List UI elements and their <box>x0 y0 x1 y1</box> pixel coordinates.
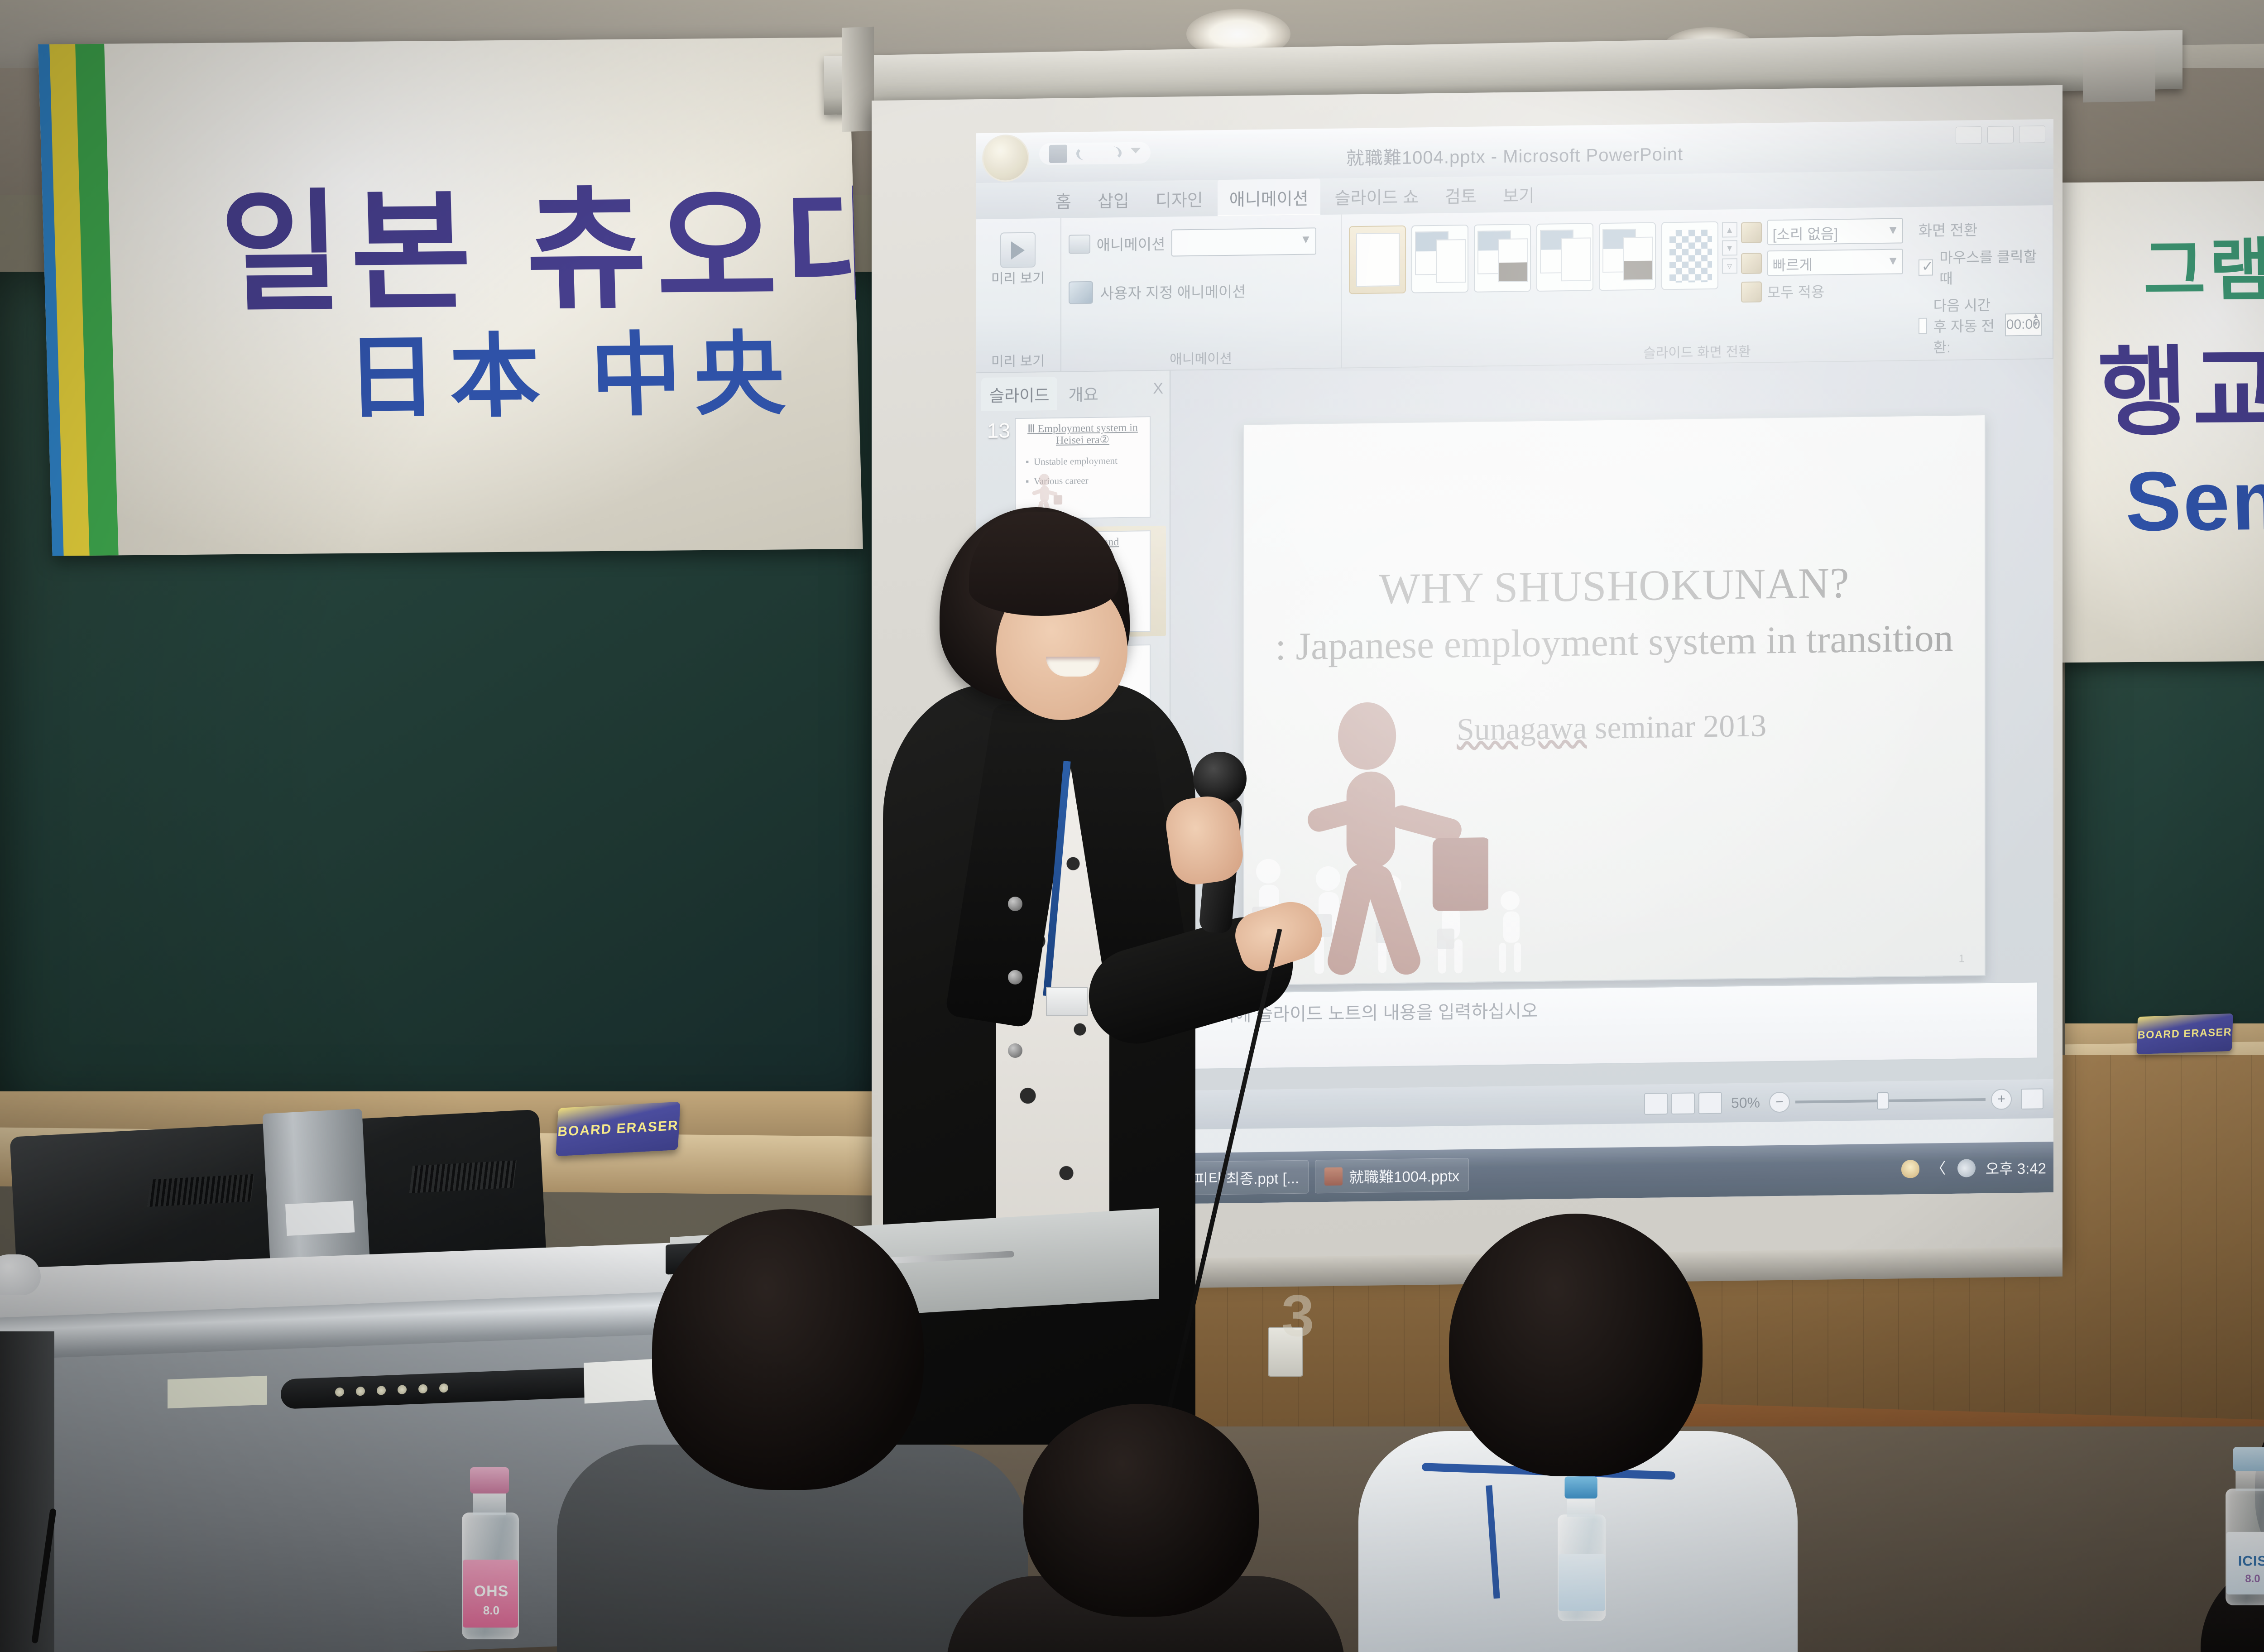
animate-control-row[interactable]: 애니메이션 <box>1069 227 1333 258</box>
tab-insert[interactable]: 삽입 <box>1086 179 1141 218</box>
advance-after-time-input[interactable]: 00:00 <box>2005 313 2042 336</box>
advance-on-click-checkbox[interactable] <box>1919 259 1933 276</box>
play-preview-icon <box>1000 232 1036 268</box>
restore-button[interactable] <box>1987 126 2014 144</box>
zoom-percent-label: 50% <box>1731 1094 1760 1111</box>
preview-button-label: 미리 보기 <box>991 271 1045 287</box>
transition-none[interactable] <box>1349 226 1406 294</box>
audience-member-front-center <box>946 1404 1354 1652</box>
bottle-label-text: OHS <box>457 1583 525 1600</box>
transition-speed-dropdown[interactable]: 빠르게 <box>1767 249 1903 276</box>
transition-push[interactable] <box>1474 224 1531 293</box>
tab-design[interactable]: 디자인 <box>1144 178 1215 217</box>
notes-pane[interactable]: 여기에 슬라이드 노트의 내용을 입력하십시오 <box>1190 981 2038 1070</box>
apply-to-all-label: 모두 적용 <box>1767 281 1825 303</box>
slide-credit: Sunagawa seminar 2013 <box>1457 708 1766 748</box>
transition-checkerboard[interactable] <box>1661 221 1718 290</box>
tab-review[interactable]: 검토 <box>1433 175 1488 213</box>
water-bottle-pink-label: OHS 8.0 <box>457 1467 525 1639</box>
transition-gallery-scroll[interactable]: ▴ ▾ ▿ <box>1722 215 1737 274</box>
taskbar-item-ppt-active[interactable]: 就職難1004.pptx <box>1315 1158 1469 1193</box>
apply-to-all-icon <box>1741 281 1762 303</box>
fit-to-window-icon[interactable] <box>2021 1088 2043 1109</box>
close-pane-icon[interactable]: X <box>1153 380 1163 398</box>
thumbnail-title: Ⅲ Employment system in Heisei era② <box>1019 422 1146 447</box>
advance-slide-options: 화면 전환 마우스를 클릭할 때 다음 시간 후 자동 전환: 00:00 <box>1907 211 2045 357</box>
screen-mount-bracket <box>842 27 874 132</box>
transition-heading: 화면 전환 <box>1919 217 2042 240</box>
slide-title: WHY SHUSHOKUNAN? <box>1244 556 1985 615</box>
slide-pane-tabs[interactable]: 슬라이드 개요 <box>976 371 1170 412</box>
bottle-label-subtext: 8.0 <box>457 1604 525 1618</box>
zoom-slider-track[interactable] <box>1795 1098 1986 1103</box>
apply-to-all-button[interactable]: 모두 적용 <box>1741 279 1903 303</box>
powerpoint-icon <box>1324 1167 1343 1186</box>
sound-icon <box>1741 222 1762 243</box>
water-bottle-icis: ICIS 8.0 <box>2221 1447 2264 1605</box>
custom-animation-icon <box>1069 281 1093 304</box>
gallery-expand-icon[interactable]: ▿ <box>1722 258 1737 274</box>
window-controls[interactable] <box>1956 125 2045 144</box>
presenter-blazer-buttons <box>1008 897 1022 1117</box>
animate-dropdown[interactable] <box>1171 227 1316 256</box>
taskbar-item-label: 就職難1004.pptx <box>1349 1164 1459 1187</box>
monitor-vent <box>409 1160 517 1193</box>
thumbnail-number: 13 <box>982 418 1010 443</box>
slide-credit-rest: seminar 2013 <box>1587 708 1767 745</box>
zoom-out-button[interactable]: − <box>1769 1092 1790 1113</box>
banner-right-line2: Seminar <box>2124 451 2264 550</box>
ribbon-group-slide-transition: ▴ ▾ ▿ [소리 없음] 빠르게 <box>1342 205 2053 368</box>
gallery-scroll-down-icon[interactable]: ▾ <box>1722 240 1737 255</box>
banner-color-band <box>38 37 173 556</box>
tab-animations[interactable]: 애니메이션 <box>1218 177 1320 216</box>
advance-after-checkbox[interactable] <box>1919 318 1927 334</box>
banner-left: 일본 츄오대 日本 中央 <box>38 37 863 556</box>
banner-right-line0: 그램 <box>2142 215 2264 314</box>
zoom-slider[interactable]: − + <box>1769 1089 2012 1113</box>
tab-slide-show[interactable]: 슬라이드 쇼 <box>1323 176 1430 215</box>
advance-on-mouse-click-row[interactable]: 마우스를 클릭할 때 <box>1919 245 2042 288</box>
ribbon[interactable]: 미리 보기 미리 보기 애니메이션 사용자 지정 애니메이션 애니메이션 <box>976 205 2053 373</box>
taskbar-clock[interactable]: 오후 3:42 <box>1986 1156 2046 1179</box>
thumbnail-bullet: Unstable employment <box>1026 455 1146 467</box>
presenter-name-badge <box>1046 987 1088 1016</box>
banner-right-line1: 행교류 세미 <box>2096 310 2264 455</box>
banner-right: 그램 행교류 세미 Seminar <box>2051 180 2264 663</box>
water-bottle-blue-cap <box>1554 1476 1611 1621</box>
pane-tab-slides[interactable]: 슬라이드 <box>981 377 1057 411</box>
transition-gallery[interactable] <box>1349 215 1718 294</box>
custom-animation-button[interactable]: 사용자 지정 애니메이션 <box>1069 278 1333 304</box>
slide-subtitle: : Japanese employment system in transiti… <box>1244 615 1985 669</box>
board-eraser-box: BOARD ERASER <box>2136 1013 2233 1054</box>
ribbon-group-preview-label: 미리 보기 <box>976 350 1060 370</box>
preview-button[interactable]: 미리 보기 <box>983 224 1053 288</box>
advance-on-click-label: 마우스를 클릭할 때 <box>1939 245 2042 288</box>
status-bar-right: 50% − + <box>1644 1088 2043 1115</box>
normal-view-icon[interactable] <box>1644 1093 1668 1115</box>
podium-instruction-sticker <box>168 1376 267 1408</box>
speed-icon <box>1741 253 1762 274</box>
banner-left-line2: 日本 中央 <box>344 300 799 436</box>
slide-editor[interactable]: WHY SHUSHOKUNAN? : Japanese employment s… <box>1170 359 2053 1091</box>
monitor-vent <box>147 1174 254 1207</box>
slide-canvas[interactable]: WHY SHUSHOKUNAN? : Japanese employment s… <box>1243 414 1986 985</box>
powerpoint-window-title: 就職難1004.pptx - Microsoft PowerPoint <box>976 134 2053 175</box>
animate-label: 애니메이션 <box>1097 232 1166 255</box>
monitor-label-sticker <box>285 1201 355 1236</box>
slide-page-number: 1 <box>1959 953 1965 965</box>
transition-fade[interactable] <box>1411 225 1468 293</box>
transition-sound-dropdown[interactable]: [소리 없음] <box>1767 218 1903 245</box>
lecture-hall-photo: 3 일본 츄오대 日本 中央 그램 행교류 세미 Seminar CASPA <box>0 0 2264 1652</box>
slide-credit-name: Sunagawa <box>1457 711 1587 748</box>
close-button[interactable] <box>2019 125 2045 143</box>
tab-view[interactable]: 보기 <box>1491 174 1546 213</box>
presenter-bangs <box>969 512 1118 616</box>
gallery-scroll-up-icon[interactable]: ▴ <box>1722 222 1737 237</box>
security-shield-icon[interactable] <box>1901 1160 1919 1178</box>
ribbon-group-preview: 미리 보기 미리 보기 <box>976 218 1061 372</box>
tab-home[interactable]: 홈 <box>1044 180 1083 218</box>
slide-show-icon[interactable] <box>1698 1092 1722 1114</box>
transition-options: [소리 없음] 빠르게 모두 적용 <box>1741 212 1903 303</box>
custom-animation-label: 사용자 지정 애니메이션 <box>1100 279 1246 303</box>
transition-speed-row[interactable]: 빠르게 <box>1741 249 1903 276</box>
system-tray[interactable]: 〈 오후 3:42 <box>1901 1156 2046 1180</box>
zoom-slider-knob[interactable] <box>1877 1092 1889 1109</box>
ribbon-group-animations: 애니메이션 사용자 지정 애니메이션 애니메이션 <box>1061 215 1342 371</box>
ime-korean-icon[interactable]: 〈 <box>1929 1159 1947 1178</box>
animate-icon <box>1069 235 1090 254</box>
bottle-label-subtext: 8.0 <box>2221 1572 2264 1585</box>
bottle-label-text: ICIS <box>2221 1553 2264 1570</box>
pane-tab-outline[interactable]: 개요 <box>1060 376 1106 410</box>
slide-sorter-icon[interactable] <box>1671 1092 1695 1114</box>
minimize-button[interactable] <box>1956 126 1982 144</box>
transition-split[interactable] <box>1599 222 1656 291</box>
thumbnail-card[interactable]: Ⅲ Employment system in Heisei era② Unsta… <box>1015 416 1151 519</box>
volume-icon[interactable] <box>1957 1159 1976 1177</box>
view-buttons[interactable] <box>1644 1092 1722 1115</box>
transition-wipe[interactable] <box>1536 223 1593 292</box>
ribbon-group-animations-label: 애니메이션 <box>1061 346 1341 370</box>
transition-sound-row[interactable]: [소리 없음] <box>1741 218 1903 245</box>
screen-roller-cap <box>2083 45 2155 103</box>
zoom-in-button[interactable]: + <box>1991 1089 2012 1110</box>
podium-side-face <box>0 1331 54 1652</box>
